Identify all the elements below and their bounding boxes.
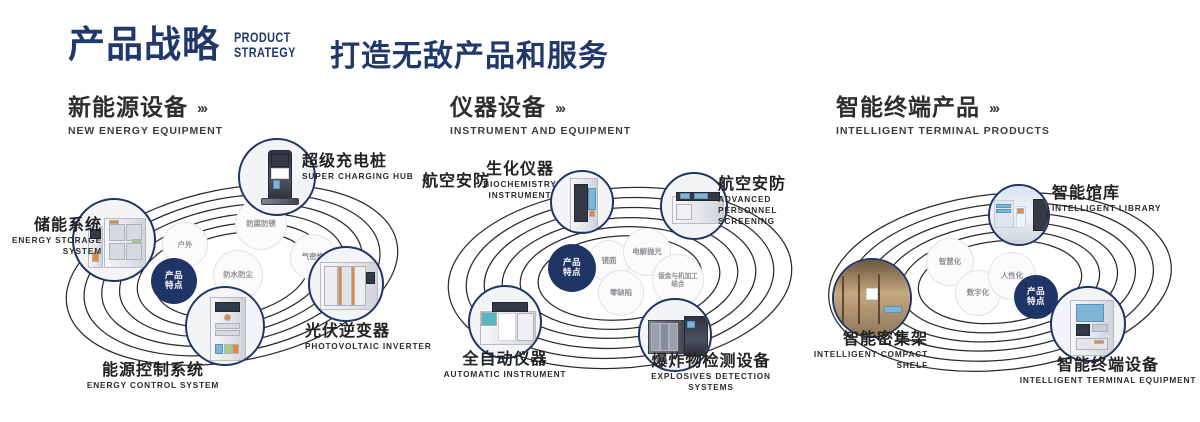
label-intelligent-terminal-equipment: 智能终端设备 INTELLIGENT TERMINAL EQUIPMENT bbox=[1018, 356, 1198, 386]
node-photovoltaic-inverter[interactable] bbox=[308, 246, 384, 322]
chevron-right-icon: ››› bbox=[555, 100, 564, 117]
core-bubble-line1: 产品 bbox=[563, 258, 581, 268]
section-title-new-energy: 新能源设备 ››› NEW ENERGY EQUIPMENT bbox=[68, 96, 223, 137]
node-intelligent-compact-shelf[interactable] bbox=[832, 258, 912, 338]
label-energy-storage-system: 储能系统 ENERGY STORAGE SYSTEM bbox=[0, 216, 102, 257]
core-bubble-line2: 特点 bbox=[1027, 297, 1045, 307]
section-title-instrument: 仪器设备 ››› INSTRUMENT AND EQUIPMENT bbox=[450, 96, 631, 137]
section-title-intelligent-terminal: 智能终端产品 ››› INTELLIGENT TERMINAL PRODUCTS bbox=[836, 96, 1050, 137]
chevron-right-icon: ››› bbox=[197, 100, 206, 117]
node-energy-control-system[interactable] bbox=[185, 286, 265, 366]
label-intelligent-compact-shelf: 智能密集架 INTELLIGENT COMPACT SHELF bbox=[800, 330, 928, 371]
label-explosives-detection-systems: 爆炸物检测设备 EXPLOSIVES DETECTION SYSTEMS bbox=[630, 352, 792, 393]
label-super-charging-hub: 超级充电桩 SUPER CHARGING HUB bbox=[302, 152, 414, 182]
label-photovoltaic-inverter: 光伏逆变器 PHOTOVOLTAIC INVERTER bbox=[305, 322, 432, 352]
core-bubble-line2: 特点 bbox=[563, 268, 581, 278]
page-title-english-line2: STRATEGY bbox=[234, 45, 296, 59]
core-bubble-line1: 产品 bbox=[1027, 287, 1045, 297]
core-bubble-line2: 特点 bbox=[165, 281, 183, 291]
node-intelligent-terminal-equipment[interactable] bbox=[1050, 286, 1126, 362]
section-title-en: NEW ENERGY EQUIPMENT bbox=[68, 125, 223, 137]
label-energy-control-system: 能源控制系统 ENERGY CONTROL SYSTEM bbox=[78, 361, 228, 391]
poster-canvas: 产品战略 PRODUCT STRATEGY 打造无敌产品和服务 新能源设备 ››… bbox=[0, 0, 1200, 422]
section-title-cn: 智能终端产品 bbox=[836, 96, 980, 121]
page-title-english-line1: PRODUCT bbox=[234, 30, 296, 44]
page-title-english: PRODUCT STRATEGY bbox=[234, 30, 296, 63]
node-automatic-instrument[interactable] bbox=[468, 285, 542, 359]
label-biochemistry-instrument: 生化仪器 BIOCHEMISTRY INSTRUMENT bbox=[466, 160, 574, 201]
poster-header: 产品战略 PRODUCT STRATEGY bbox=[68, 26, 313, 63]
core-bubble-line1: 产品 bbox=[165, 271, 183, 281]
label-intelligent-library: 智能馆库 INTELLIGENT LIBRARY bbox=[1052, 184, 1161, 214]
label-automatic-instrument: 全自动仪器 AUTOMATIC INSTRUMENT bbox=[432, 350, 578, 380]
section-title-en: INSTRUMENT AND EQUIPMENT bbox=[450, 125, 631, 137]
page-subtitle: 打造无敌产品和服务 bbox=[330, 31, 609, 75]
core-bubble-product-features: 产品 特点 bbox=[548, 244, 596, 292]
node-intelligent-library[interactable] bbox=[988, 184, 1050, 246]
page-title: 产品战略 bbox=[68, 26, 220, 63]
feature-bubble: 零缺陷 bbox=[598, 270, 644, 316]
chevron-right-icon: ››› bbox=[989, 100, 998, 117]
section-title-cn: 新能源设备 bbox=[68, 96, 188, 121]
section-title-en: INTELLIGENT TERMINAL PRODUCTS bbox=[836, 125, 1050, 137]
section-title-cn: 仪器设备 bbox=[450, 96, 546, 121]
